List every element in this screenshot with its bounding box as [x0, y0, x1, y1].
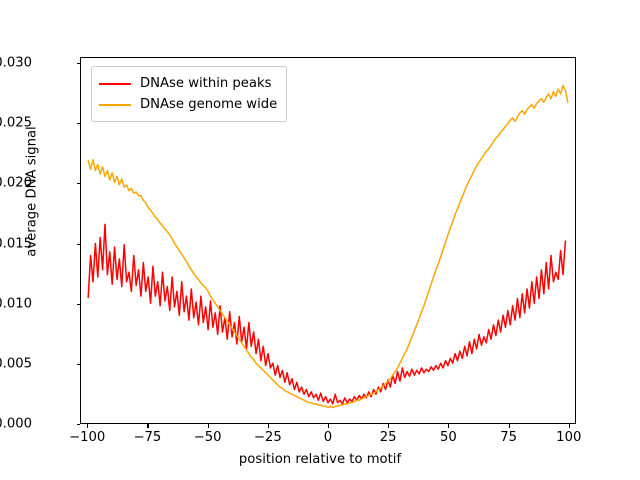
x-tick-label: −75	[133, 430, 161, 445]
x-tick-mark	[388, 424, 389, 428]
x-axis-label: position relative to motif	[0, 452, 640, 467]
y-tick-label: 0.010	[0, 296, 32, 311]
legend-swatch-red	[99, 83, 131, 85]
x-tick-mark	[328, 424, 329, 428]
x-tick-label: −25	[254, 430, 282, 445]
y-tick-label: 0.025	[0, 116, 32, 131]
legend-label-dnase-within-peaks: DNAse within peaks	[140, 76, 271, 91]
x-tick-label: −100	[69, 430, 105, 445]
series-line-1	[88, 86, 568, 408]
x-tick-mark	[87, 424, 88, 428]
x-tick-mark	[569, 424, 570, 428]
y-tick-label: 0.005	[0, 356, 32, 371]
figure-canvas: average DNA signal 0.0000.0050.0100.0150…	[0, 0, 640, 480]
x-tick-label: −50	[194, 430, 222, 445]
legend-item-dnase-genome-wide[interactable]: DNAse genome wide	[99, 94, 277, 115]
y-tick-label: 0.015	[0, 236, 32, 251]
x-tick-label: 75	[500, 430, 517, 445]
y-tick-label: 0.000	[0, 417, 32, 432]
x-tick-label: 50	[440, 430, 457, 445]
legend[interactable]: DNAse within peaks DNAse genome wide	[91, 66, 287, 122]
series-line-0	[88, 224, 565, 404]
legend-item-dnase-within-peaks[interactable]: DNAse within peaks	[99, 73, 277, 94]
y-tick-label: 0.020	[0, 176, 32, 191]
x-tick-mark	[268, 424, 269, 428]
x-tick-label: 25	[380, 430, 397, 445]
plot-area: DNAse within peaks DNAse genome wide	[80, 57, 576, 424]
x-tick-mark	[208, 424, 209, 428]
x-tick-mark	[509, 424, 510, 428]
legend-label-dnase-genome-wide: DNAse genome wide	[140, 97, 277, 112]
x-tick-mark	[147, 424, 148, 428]
x-tick-label: 0	[324, 430, 332, 445]
y-tick-label: 0.030	[0, 56, 32, 71]
x-tick-mark	[448, 424, 449, 428]
x-tick-label: 100	[556, 430, 581, 445]
legend-swatch-orange	[99, 104, 131, 106]
y-tick-mark	[77, 424, 81, 425]
